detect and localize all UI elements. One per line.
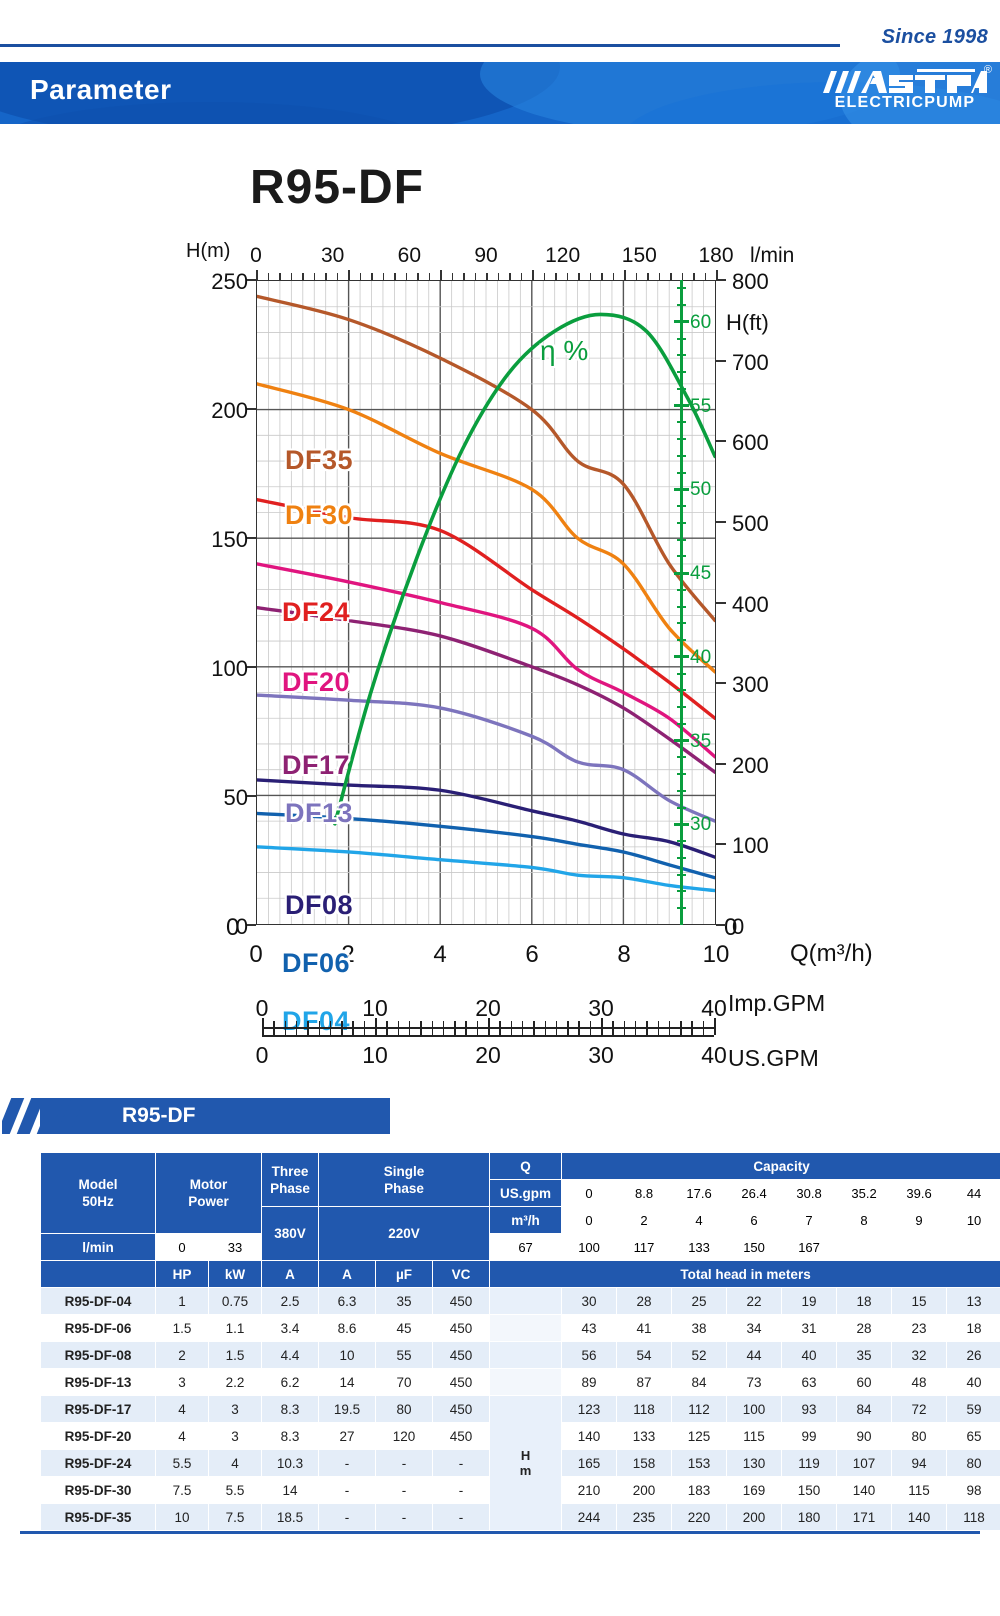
spec-table-section: R95-DF Model 50Hz Motor Power ThreePha xyxy=(0,1098,1000,1534)
us-gpm-tick-mark xyxy=(398,1029,400,1035)
cell-hp: 3 xyxy=(156,1369,209,1396)
cell-kw: 1.5 xyxy=(209,1342,262,1369)
imp-gpm-tick-mark xyxy=(465,1021,467,1027)
logo-wordmark-icon: ® xyxy=(820,66,990,96)
cell-model: R95-DF-08 xyxy=(41,1342,156,1369)
cell-head: 30 xyxy=(562,1288,617,1315)
us-gpm-tick-mark xyxy=(511,1029,513,1035)
x-top-tick-mark xyxy=(693,273,695,280)
cell-model: R95-DF-04 xyxy=(41,1288,156,1315)
cell-amps-3ph: 6.2 xyxy=(262,1369,319,1396)
cell-amps-3ph: 4.4 xyxy=(262,1342,319,1369)
table-row: R95-DF-08 2 1.5 4.4 10 55 450 5654524440… xyxy=(41,1342,1000,1369)
x-top-tick-mark xyxy=(532,270,534,280)
cell-head: 118 xyxy=(617,1396,672,1423)
x-top-tick-mark xyxy=(590,273,592,280)
y2-tick-mark xyxy=(716,924,726,926)
imp-gpm-tick-mark xyxy=(273,1021,275,1027)
curve-label-df17: DF17 xyxy=(282,750,350,781)
cell-uf: 45 xyxy=(376,1315,433,1342)
cell-head: 40 xyxy=(782,1342,837,1369)
cell-head: 115 xyxy=(727,1423,782,1450)
cell-amps-1ph: 10 xyxy=(319,1342,376,1369)
top-rule-line xyxy=(0,44,840,47)
imp-gpm-tick-mark xyxy=(499,1021,501,1027)
eta-minor-tick xyxy=(677,840,686,842)
us-gpm-tick-mark xyxy=(420,1029,422,1035)
cell-head: 140 xyxy=(892,1504,947,1531)
cell-head: 63 xyxy=(782,1369,837,1396)
curve-label-df06: DF06 xyxy=(282,948,350,979)
cap-m3h-4: 7 xyxy=(782,1207,837,1234)
cell-head: 115 xyxy=(892,1477,947,1504)
curve-label-df08: DF08 xyxy=(285,890,353,921)
eta-tick-mark xyxy=(674,655,689,658)
cell-head: 34 xyxy=(727,1315,782,1342)
cell-head: 44 xyxy=(727,1342,782,1369)
th-motor-power: Motor Power xyxy=(156,1153,262,1234)
th-kw: kW xyxy=(209,1261,262,1288)
curve-label-df30: DF30 xyxy=(285,500,353,531)
cell-kw: 0.75 xyxy=(209,1288,262,1315)
cap-usgpm-6: 39.6 xyxy=(892,1180,947,1207)
x-top-tick-mark xyxy=(613,273,615,280)
cell-head: 28 xyxy=(617,1288,672,1315)
y2-tick-mark xyxy=(716,763,726,765)
cap-m3h-3: 6 xyxy=(727,1207,782,1234)
table-header-row-1: Model 50Hz Motor Power ThreePhase Single… xyxy=(41,1153,1000,1180)
x-top-tick-mark xyxy=(716,270,718,280)
x-top-tick-60: 60 xyxy=(398,244,421,268)
cell-hp: 7.5 xyxy=(156,1477,209,1504)
eta-minor-tick xyxy=(677,371,686,373)
cell-head: 153 xyxy=(672,1450,727,1477)
us-gpm-tick-20: 20 xyxy=(475,1042,501,1069)
blank-cell xyxy=(490,1342,562,1369)
us-gpm-tick-mark xyxy=(488,1026,490,1035)
cell-head: 130 xyxy=(727,1450,782,1477)
imp-gpm-tick-mark xyxy=(409,1021,411,1027)
x-top-tick-mark xyxy=(475,273,477,280)
us-gpm-tick-mark xyxy=(477,1029,479,1035)
cell-head: 235 xyxy=(617,1504,672,1531)
eta-minor-tick xyxy=(677,790,686,792)
cell-head: 87 xyxy=(617,1369,672,1396)
y-tick-mark xyxy=(247,408,256,410)
imp-gpm-tick-mark xyxy=(454,1021,456,1027)
cell-head: 43 xyxy=(562,1315,617,1342)
cap-usgpm-3: 26.4 xyxy=(727,1180,782,1207)
cell-head: 18 xyxy=(837,1288,892,1315)
cell-model: R95-DF-35 xyxy=(41,1504,156,1531)
cell-kw: 4 xyxy=(209,1450,262,1477)
imp-gpm-tick-mark xyxy=(635,1021,637,1027)
cell-vc: - xyxy=(433,1450,490,1477)
cell-head: 19 xyxy=(782,1288,837,1315)
eta-minor-tick xyxy=(677,421,686,423)
imp-gpm-tick-mark xyxy=(432,1021,434,1027)
us-gpm-tick-mark xyxy=(443,1029,445,1035)
cap-m3h-2: 4 xyxy=(672,1207,727,1234)
x-top-tick-mark xyxy=(601,273,603,280)
us-gpm-tick-mark xyxy=(669,1029,671,1035)
cell-head: 99 xyxy=(782,1423,837,1450)
cell-head: 84 xyxy=(837,1396,892,1423)
imp-gpm-tick-mark xyxy=(420,1021,422,1027)
th-380v: 380V xyxy=(262,1207,319,1261)
y-tick-mark xyxy=(247,279,256,281)
cell-head: 200 xyxy=(727,1504,782,1531)
cell-vc: 450 xyxy=(433,1396,490,1423)
imp-gpm-label: Imp.GPM xyxy=(728,990,825,1017)
us-gpm-tick-mark xyxy=(658,1029,660,1035)
table-row: R95-DF-04 1 0.75 2.5 6.3 35 450 30282522… xyxy=(41,1288,1000,1315)
y-tick-50: 50 xyxy=(180,785,248,811)
cell-model: R95-DF-13 xyxy=(41,1369,156,1396)
cap-lmin-7: 167 xyxy=(782,1234,837,1261)
blank-cell xyxy=(490,1288,562,1315)
cell-head: 25 xyxy=(672,1288,727,1315)
cell-head: 107 xyxy=(837,1450,892,1477)
y2-tick-700: 700 xyxy=(732,350,769,376)
x-tick-0: 0 xyxy=(249,941,262,969)
y2-tick-0: 0 xyxy=(732,914,744,940)
cell-head: 38 xyxy=(672,1315,727,1342)
x-top-tick-90: 90 xyxy=(474,244,497,268)
cell-amps-1ph: - xyxy=(319,1450,376,1477)
x-top-tick-mark xyxy=(463,273,465,280)
imp-gpm-tick-mark xyxy=(556,1021,558,1027)
eta-tick-30: 30 xyxy=(690,814,711,836)
us-gpm-tick-mark xyxy=(386,1029,388,1035)
us-gpm-tick-mark xyxy=(646,1029,648,1035)
cell-kw: 5.5 xyxy=(209,1477,262,1504)
x-top-tick-mark xyxy=(371,273,373,280)
cap-m3h-1: 2 xyxy=(617,1207,672,1234)
cell-kw: 3 xyxy=(209,1423,262,1450)
x-top-tick-mark xyxy=(360,273,362,280)
table-row: R95-DF-17 4 3 8.3 19.5 80 450 Hm 1231181… xyxy=(41,1396,1000,1423)
performance-chart: R95-DF H(m) H(ft) Q(m³/h) l/min 0 0 0501… xyxy=(0,140,1000,1100)
eta-minor-tick xyxy=(677,555,686,557)
cell-amps-1ph: 8.6 xyxy=(319,1315,376,1342)
th-amps-1ph: A xyxy=(319,1261,376,1288)
eta-minor-tick xyxy=(677,639,686,641)
cap-lmin-1: 33 xyxy=(209,1234,262,1261)
cell-head: 169 xyxy=(727,1477,782,1504)
cell-hp: 1 xyxy=(156,1288,209,1315)
cap-lmin-0: 0 xyxy=(156,1234,209,1261)
eta-tick-mark xyxy=(674,739,689,742)
cap-lmin-6: 150 xyxy=(727,1234,782,1261)
table-header-row-5: HP kW A A µF VC Total head in meters xyxy=(41,1261,1000,1288)
x-tick-8: 8 xyxy=(617,941,630,969)
cell-head: 183 xyxy=(672,1477,727,1504)
eta-minor-tick xyxy=(677,455,686,457)
th-single-phase: SinglePhase xyxy=(319,1153,490,1207)
cell-amps-3ph: 14 xyxy=(262,1477,319,1504)
eta-minor-tick xyxy=(677,472,686,474)
cell-amps-1ph: 27 xyxy=(319,1423,376,1450)
cell-hp: 10 xyxy=(156,1504,209,1531)
x-top-tick-120: 120 xyxy=(545,244,580,268)
x-top-tick-180: 180 xyxy=(698,244,733,268)
cell-head: 244 xyxy=(562,1504,617,1531)
x-tick-6: 6 xyxy=(525,941,538,969)
x-top-tick-mark xyxy=(291,273,293,280)
y2-tick-500: 500 xyxy=(732,511,769,537)
us-gpm-tick-mark xyxy=(590,1029,592,1035)
eta-tick-40: 40 xyxy=(690,647,711,669)
th-three-phase: ThreePhase xyxy=(262,1153,319,1207)
cell-head: 65 xyxy=(947,1423,1000,1450)
eta-minor-tick xyxy=(677,689,686,691)
cap-usgpm-4: 30.8 xyxy=(782,1180,837,1207)
cell-head: 28 xyxy=(837,1315,892,1342)
cell-vc: - xyxy=(433,1504,490,1531)
x-top-tick-mark xyxy=(659,273,661,280)
section-header-bar: R95-DF xyxy=(40,1098,390,1134)
cap-usgpm-2: 17.6 xyxy=(672,1180,727,1207)
th-hp: HP xyxy=(156,1261,209,1288)
eta-minor-tick xyxy=(677,622,686,624)
cell-head: 180 xyxy=(782,1504,837,1531)
eta-tick-60: 60 xyxy=(690,312,711,334)
x-top-tick-mark xyxy=(406,273,408,280)
cell-uf: 55 xyxy=(376,1342,433,1369)
cell-head: 54 xyxy=(617,1342,672,1369)
cap-lmin-5: 133 xyxy=(672,1234,727,1261)
cell-head: 80 xyxy=(892,1423,947,1450)
th-blank xyxy=(41,1261,156,1288)
eta-minor-tick xyxy=(677,589,686,591)
cell-head: 89 xyxy=(562,1369,617,1396)
th-amps-3ph: A xyxy=(262,1261,319,1288)
cell-head: 140 xyxy=(562,1423,617,1450)
imp-gpm-tick-mark xyxy=(680,1021,682,1027)
x-top-tick-mark xyxy=(624,270,626,280)
x-top-tick-mark xyxy=(567,273,569,280)
eta-tick-mark xyxy=(674,488,689,491)
x-top-tick-150: 150 xyxy=(622,244,657,268)
cell-head: 52 xyxy=(672,1342,727,1369)
y2-tick-100: 100 xyxy=(732,833,769,859)
eta-minor-tick xyxy=(677,304,686,306)
x-top-tick-mark xyxy=(486,273,488,280)
cell-head: 32 xyxy=(892,1342,947,1369)
cell-head: 119 xyxy=(782,1450,837,1477)
cell-amps-3ph: 18.5 xyxy=(262,1504,319,1531)
cell-head: 41 xyxy=(617,1315,672,1342)
imp-gpm-tick-mark xyxy=(590,1021,592,1027)
x-top-tick-mark xyxy=(337,273,339,280)
imp-gpm-tick-mark xyxy=(330,1021,332,1027)
cell-hp: 4 xyxy=(156,1423,209,1450)
cell-model: R95-DF-24 xyxy=(41,1450,156,1477)
eta-minor-tick xyxy=(677,756,686,758)
us-gpm-tick-mark xyxy=(691,1029,693,1035)
imp-gpm-tick-mark xyxy=(296,1021,298,1027)
cell-hp: 5.5 xyxy=(156,1450,209,1477)
us-gpm-tick-mark xyxy=(409,1029,411,1035)
us-gpm-tick-mark xyxy=(432,1029,434,1035)
us-gpm-tick-mark xyxy=(635,1029,637,1035)
cap-m3h-7: 10 xyxy=(947,1207,1000,1234)
us-gpm-tick-mark xyxy=(296,1029,298,1035)
cell-vc: 450 xyxy=(433,1315,490,1342)
cell-head: 60 xyxy=(837,1369,892,1396)
table-body: R95-DF-04 1 0.75 2.5 6.3 35 450 30282522… xyxy=(41,1288,1000,1531)
x-top-tick-mark xyxy=(302,273,304,280)
eta-minor-tick xyxy=(677,438,686,440)
cell-head: 26 xyxy=(947,1342,1000,1369)
us-gpm-tick-mark xyxy=(567,1029,569,1035)
blank-cell xyxy=(490,1369,562,1396)
y2-tick-300: 300 xyxy=(732,672,769,698)
x-top-tick-mark xyxy=(440,270,442,280)
eta-minor-tick xyxy=(677,606,686,608)
eta-tick-45: 45 xyxy=(690,563,711,585)
x-top-tick-mark xyxy=(452,273,454,280)
us-gpm-tick-mark xyxy=(556,1029,558,1035)
th-total-head: Total head in meters xyxy=(490,1261,1000,1288)
us-gpm-tick-mark xyxy=(499,1029,501,1035)
us-gpm-tick-mark xyxy=(307,1029,309,1035)
cell-head: 112 xyxy=(672,1396,727,1423)
cell-head: 118 xyxy=(947,1504,1000,1531)
us-gpm-tick-mark xyxy=(703,1029,705,1035)
y2-tick-200: 200 xyxy=(732,753,769,779)
x-top-tick-mark xyxy=(348,270,350,280)
eta-minor-tick xyxy=(677,706,686,708)
eta-tick-mark xyxy=(674,320,689,323)
th-lmin: l/min xyxy=(41,1234,156,1261)
imp-gpm-tick-mark xyxy=(364,1021,366,1027)
th-uf: µF xyxy=(376,1261,433,1288)
cell-hp: 2 xyxy=(156,1342,209,1369)
cell-head: 94 xyxy=(892,1450,947,1477)
cell-vc: 450 xyxy=(433,1342,490,1369)
us-gpm-tick-mark xyxy=(545,1029,547,1035)
x-top-tick-mark xyxy=(383,273,385,280)
cell-head: 158 xyxy=(617,1450,672,1477)
cell-hp: 4 xyxy=(156,1396,209,1423)
eta-tick-mark xyxy=(674,572,689,575)
cell-head: 40 xyxy=(947,1369,1000,1396)
brand-logo: ® ELECTRICPUMP xyxy=(820,66,990,111)
eta-minor-tick xyxy=(677,857,686,859)
cell-head: 72 xyxy=(892,1396,947,1423)
specification-table: Model 50Hz Motor Power ThreePhase Single… xyxy=(40,1152,1000,1531)
cell-kw: 2.2 xyxy=(209,1369,262,1396)
cell-head: 140 xyxy=(837,1477,892,1504)
us-gpm-tick-mark xyxy=(319,1029,321,1035)
cell-amps-1ph: 14 xyxy=(319,1369,376,1396)
x-top-tick-mark xyxy=(555,273,557,280)
cell-uf: 80 xyxy=(376,1396,433,1423)
eta-minor-tick xyxy=(677,505,686,507)
imp-gpm-tick-mark xyxy=(477,1021,479,1027)
cap-lmin-2: 67 xyxy=(490,1234,562,1261)
since-label: Since 1998 xyxy=(882,26,988,49)
x-tick-10: 10 xyxy=(703,941,730,969)
us-gpm-tick-30: 30 xyxy=(588,1042,614,1069)
x-top-tick-mark xyxy=(705,273,707,280)
y2-tick-mark xyxy=(716,521,726,523)
x-top-axis-label: l/min xyxy=(750,244,794,268)
cell-amps-3ph: 8.3 xyxy=(262,1396,319,1423)
x-tick-4: 4 xyxy=(433,941,446,969)
us-gpm-tick-mark xyxy=(578,1029,580,1035)
cell-head: 59 xyxy=(947,1396,1000,1423)
x-top-tick-mark xyxy=(498,273,500,280)
eta-minor-tick xyxy=(677,539,686,541)
y2-tick-mark xyxy=(716,602,726,604)
cell-uf: - xyxy=(376,1477,433,1504)
x-top-tick-mark xyxy=(325,273,327,280)
x-top-tick-mark xyxy=(509,273,511,280)
cell-amps-1ph: 6.3 xyxy=(319,1288,376,1315)
cell-uf: 120 xyxy=(376,1423,433,1450)
y-tick-mark xyxy=(247,537,256,539)
x-top-tick-mark xyxy=(647,273,649,280)
eta-minor-tick xyxy=(677,773,686,775)
cell-head: 80 xyxy=(947,1450,1000,1477)
eta-label: η % xyxy=(540,335,588,367)
y2-tick-800: 800 xyxy=(732,269,769,295)
us-gpm-tick-mark xyxy=(341,1029,343,1035)
eta-tick-50: 50 xyxy=(690,479,711,501)
imp-gpm-tick-mark xyxy=(624,1021,626,1027)
x-top-tick-mark xyxy=(417,273,419,280)
us-gpm-tick-10: 10 xyxy=(362,1042,388,1069)
curve-label-df20: DF20 xyxy=(282,667,350,698)
cell-head: 93 xyxy=(782,1396,837,1423)
eta-minor-tick xyxy=(677,354,686,356)
cap-lmin-3: 100 xyxy=(562,1234,617,1261)
cell-amps-1ph: - xyxy=(319,1477,376,1504)
hm-unit-cell: Hm xyxy=(490,1396,562,1531)
y-tick-0: 0 xyxy=(180,914,248,940)
imp-gpm-tick-mark xyxy=(612,1021,614,1027)
y-tick-mark xyxy=(247,666,256,668)
us-gpm-tick-mark xyxy=(262,1026,264,1035)
y2-tick-mark xyxy=(716,440,726,442)
y-tick-150: 150 xyxy=(180,527,248,553)
cell-head: 18 xyxy=(947,1315,1000,1342)
imp-gpm-tick-mark xyxy=(646,1021,648,1027)
us-gpm-tick-mark xyxy=(465,1029,467,1035)
x-top-tick-mark xyxy=(670,273,672,280)
cap-usgpm-0: 0 xyxy=(562,1180,617,1207)
cell-vc: 450 xyxy=(433,1369,490,1396)
th-vc: VC xyxy=(433,1261,490,1288)
y2-tick-mark xyxy=(716,843,726,845)
cell-head: 133 xyxy=(617,1423,672,1450)
us-gpm-tick-mark xyxy=(330,1029,332,1035)
us-gpm-tick-mark xyxy=(364,1029,366,1035)
imp-gpm-tick-mark xyxy=(567,1021,569,1027)
th-220v: 220V xyxy=(319,1207,490,1261)
th-us-gpm: US.gpm xyxy=(490,1180,562,1207)
cell-head: 13 xyxy=(947,1288,1000,1315)
eta-minor-tick xyxy=(677,673,686,675)
section-title: R95-DF xyxy=(122,1104,196,1128)
cell-head: 90 xyxy=(837,1423,892,1450)
curve-label-df24: DF24 xyxy=(282,597,350,628)
x-top-tick-mark xyxy=(544,273,546,280)
y2-tick-mark xyxy=(716,360,726,362)
